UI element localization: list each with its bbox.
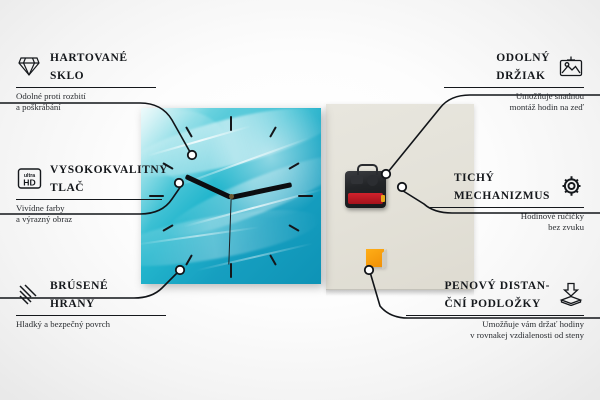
divider <box>430 207 584 208</box>
feature-title: BRÚSENÉ HRANY <box>50 276 108 312</box>
feature-heading: BRÚSENÉ HRANY <box>16 276 166 312</box>
feature-title: VYSOKOKVALITNÝ TLAČ <box>50 160 168 196</box>
feature-foam-spacers[interactable]: PENOVÝ DISTAN- ČNÍ PODLOŽKY Umožňuje vám… <box>406 276 584 341</box>
feature-ground-edges[interactable]: BRÚSENÉ HRANY Hladký a bezpečný povrch <box>16 276 166 330</box>
picture-hanger-icon <box>558 54 584 78</box>
diamond-icon <box>16 54 42 78</box>
feature-title: HARTOVANÉ SKLO <box>50 48 128 84</box>
battery <box>348 193 383 204</box>
svg-text:HD: HD <box>23 177 35 187</box>
ground-edges-icon <box>16 282 42 306</box>
feature-description: Hladký a bezpečný povrch <box>16 319 166 330</box>
divider <box>16 87 156 88</box>
clock-hub <box>229 194 234 199</box>
mechanism-hanger <box>357 164 378 175</box>
feature-silent-mechanism[interactable]: TICHÝ MECHANIZMUS Hodinové ručičky bez z… <box>430 168 584 233</box>
foam-spacer-icon <box>558 282 584 306</box>
hour-hand <box>185 174 232 200</box>
gear-icon <box>558 174 584 198</box>
feature-high-quality-print[interactable]: ultra HD VYSOKOKVALITNÝ TLAČ Vivídne far… <box>16 160 162 225</box>
clock-mechanism <box>345 171 386 208</box>
divider <box>444 87 584 88</box>
feature-heading: PENOVÝ DISTAN- ČNÍ PODLOŽKY <box>406 276 584 312</box>
foam-spacer-pad <box>366 249 384 267</box>
feature-title: ODOLNÝ DRŽIAK <box>496 48 550 84</box>
feature-durable-hanger[interactable]: ODOLNÝ DRŽIAK Umožňuje snadnou montáž ho… <box>444 48 584 113</box>
feature-title: TICHÝ MECHANIZMUS <box>454 168 550 204</box>
feature-heading: HARTOVANÉ SKLO <box>16 48 156 84</box>
infographic-canvas: HARTOVANÉ SKLO Odolné proti rozbití a po… <box>0 0 600 400</box>
clock-face <box>141 108 321 284</box>
second-hand <box>228 197 232 265</box>
divider <box>406 315 584 316</box>
minute-hand <box>230 182 292 200</box>
feature-description: Odolné proti rozbití a poškrábání <box>16 91 156 113</box>
feature-description: Hodinové ručičky bez zvuku <box>430 211 584 233</box>
feature-heading: ODOLNÝ DRŽIAK <box>444 48 584 84</box>
feature-heading: ultra HD VYSOKOKVALITNÝ TLAČ <box>16 160 162 196</box>
feature-title: PENOVÝ DISTAN- ČNÍ PODLOŽKY <box>444 276 550 312</box>
mechanism-cap <box>351 176 363 184</box>
feature-description: Umožňuje snadnou montáž hodin na zeď <box>444 91 584 113</box>
divider <box>16 199 162 200</box>
feature-description: Umožňuje vám držať hodiny v rovnakej vzd… <box>406 319 584 341</box>
feature-tempered-glass[interactable]: HARTOVANÉ SKLO Odolné proti rozbití a po… <box>16 48 156 113</box>
divider <box>16 315 166 316</box>
mechanism-dial <box>367 175 378 186</box>
ultra-hd-icon: ultra HD <box>16 166 42 190</box>
glass-wall-clock-image <box>141 108 321 284</box>
feature-heading: TICHÝ MECHANIZMUS <box>430 168 584 204</box>
feature-description: Vivídne farby a výrazný obraz <box>16 203 162 225</box>
